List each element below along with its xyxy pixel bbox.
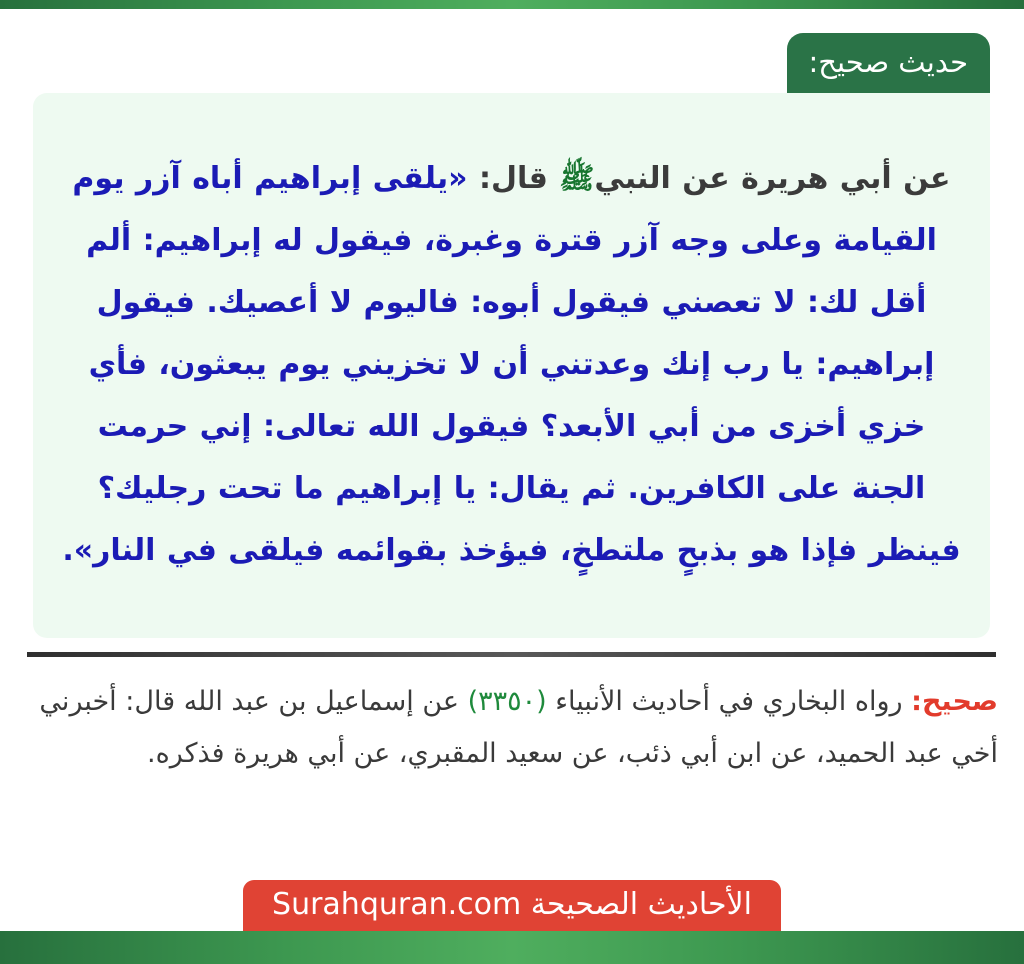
site-footer-banner[interactable]: الأحاديث الصحيحة Surahquran.com [243,880,781,931]
badge-row: حديث صحيح: [0,33,1024,93]
top-green-rail [0,0,1024,9]
section-divider [27,652,996,657]
source-grade-label: صحيح: [911,686,998,717]
bottom-green-rail [0,931,1024,964]
footer-site-url[interactable]: Surahquran.com [272,887,521,922]
hadith-grade-badge: حديث صحيح: [787,33,991,93]
hadith-narrator-intro: عن أبي هريرة عن النبي [594,161,950,196]
hadith-card-page: حديث صحيح: عن أبي هريرة عن النبيﷺ قال: «… [0,0,1024,964]
hadith-text-body: عن أبي هريرة عن النبيﷺ قال: «يلقى إبراهي… [59,147,964,582]
footer-title: الأحاديث الصحيحة [531,887,752,922]
hadith-said-word: قال: [479,161,548,196]
sallallahu-alayhi-wasallam-icon: ﷺ [559,161,594,195]
source-text-before-number: رواه البخاري في أحاديث الأنبياء [555,686,902,717]
source-hadith-number: (٣٣٥٠) [468,686,547,717]
hadith-source-attribution: صحيح: رواه البخاري في أحاديث الأنبياء (٣… [26,676,998,780]
hadith-quote-body: «يلقى إبراهيم أباه آزر يوم القيامة وعلى … [62,161,960,568]
hadith-text-card: عن أبي هريرة عن النبيﷺ قال: «يلقى إبراهي… [33,93,990,638]
